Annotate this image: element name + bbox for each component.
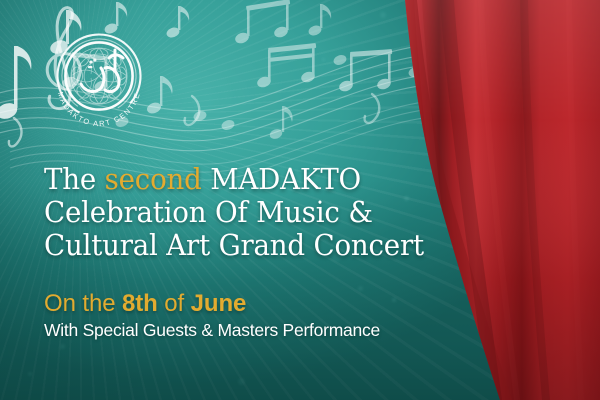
headline-line2: Celebration Of Music & bbox=[44, 196, 461, 229]
dateline-month: June bbox=[191, 290, 247, 317]
dateline-middle: of bbox=[158, 290, 191, 317]
madakto-art-centre-logo: MADAKTO ART CENTRE bbox=[47, 28, 151, 132]
headline-highlight: second bbox=[105, 163, 202, 196]
headline-line3: Cultural Art Grand Concert bbox=[44, 229, 461, 262]
headline: The second MADAKTO Celebration Of Music … bbox=[44, 163, 474, 262]
dateline-day: 8th bbox=[122, 290, 158, 317]
dateline: On the 8th of June bbox=[44, 291, 474, 317]
subline: With Special Guests & Masters Performanc… bbox=[44, 320, 474, 341]
poster-copy: The second MADAKTO Celebration Of Music … bbox=[44, 163, 474, 341]
headline-line1-suffix: MADAKTO bbox=[202, 163, 361, 196]
headline-line1-prefix: The bbox=[44, 163, 105, 196]
concert-poster: MADAKTO ART CENTRE bbox=[0, 0, 600, 400]
dateline-prefix: On the bbox=[44, 290, 122, 317]
